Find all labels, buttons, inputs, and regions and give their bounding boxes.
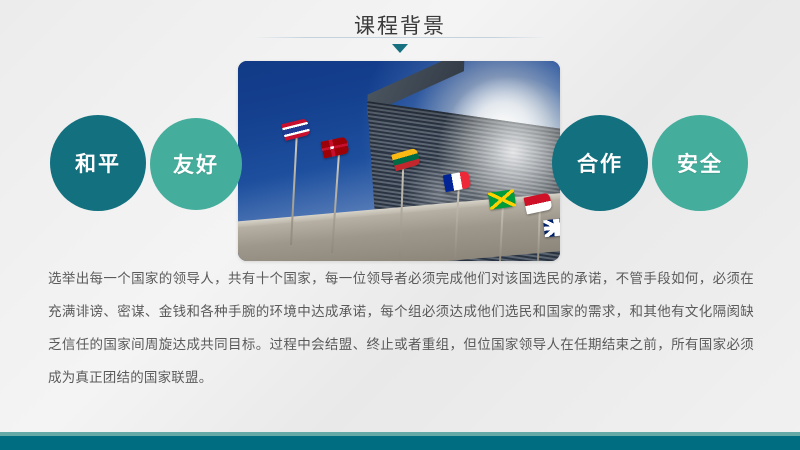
footer-bar (0, 436, 800, 450)
keyword-circle-peace[interactable]: 和平 (50, 115, 146, 211)
un-headquarters-photo (238, 61, 560, 261)
triangle-down-icon (392, 44, 408, 53)
slide-canvas: 课程背景 和平 (0, 0, 800, 450)
keyword-circle-friendship[interactable]: 友好 (150, 118, 242, 210)
title-divider (253, 37, 547, 38)
flag-thailand-icon (281, 118, 310, 141)
keyword-circle-label: 和平 (75, 148, 121, 178)
keyword-circle-label: 安全 (677, 148, 723, 178)
keyword-circle-security[interactable]: 安全 (652, 115, 748, 211)
flag-jamaica-icon (488, 189, 516, 209)
keyword-circle-label: 友好 (173, 149, 219, 179)
keyword-circle-label: 合作 (577, 148, 623, 178)
photo-sky (238, 61, 560, 261)
flag-united-kingdom-icon (543, 218, 560, 238)
body-paragraph: 选举出每一个国家的领导人，共有十个国家，每一位领导者必须完成他们对该国选民的承诺… (48, 262, 754, 394)
keyword-circle-cooperation[interactable]: 合作 (552, 115, 648, 211)
flag-denmark-icon (320, 136, 349, 158)
